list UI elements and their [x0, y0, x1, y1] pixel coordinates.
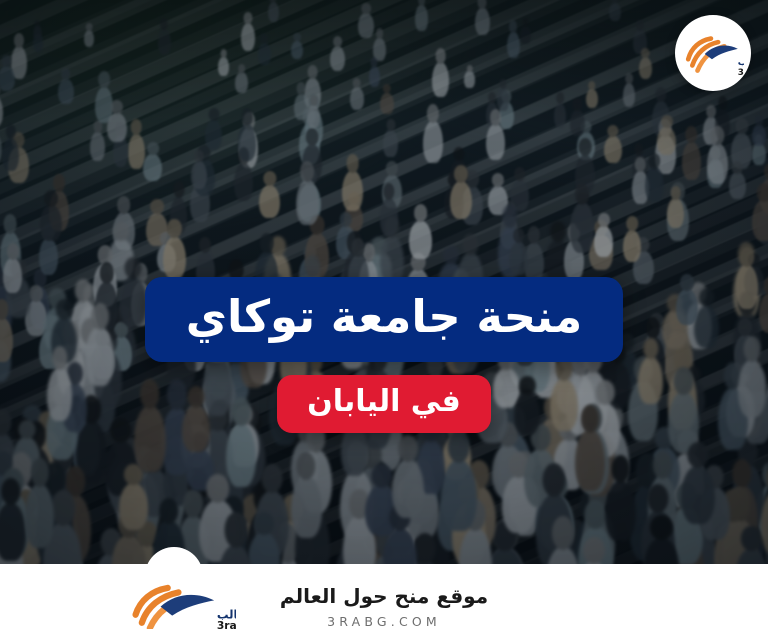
brand-domain: 3rabg.com	[738, 68, 744, 78]
footer-domain: 3RABG.COM	[219, 614, 549, 629]
subtitle-box[interactable]: في اليابان	[277, 375, 491, 433]
promo-poster: دليل الطالب 3rabg.com منحة جامعة توكاي ف…	[0, 0, 768, 644]
title-box[interactable]: منحة جامعة توكاي	[145, 277, 623, 362]
brand-logo-badge[interactable]: دليل الطالب 3rabg.com	[675, 15, 751, 91]
subtitle-text: في اليابان	[307, 384, 461, 420]
brand-name-ar: دليل الطالب	[738, 57, 744, 68]
footer-tagline: موقع منح حول العالم	[219, 584, 549, 609]
brand-logo-mark: دليل الطالب 3rabg.com	[682, 26, 744, 80]
title-text: منحة جامعة توكاي	[179, 290, 589, 343]
footer-text-group: موقع منح حول العالم 3RABG.COM	[219, 584, 549, 629]
footer-bar: دليل الطالب 3rabg.com موقع منح حول العال…	[0, 564, 768, 644]
